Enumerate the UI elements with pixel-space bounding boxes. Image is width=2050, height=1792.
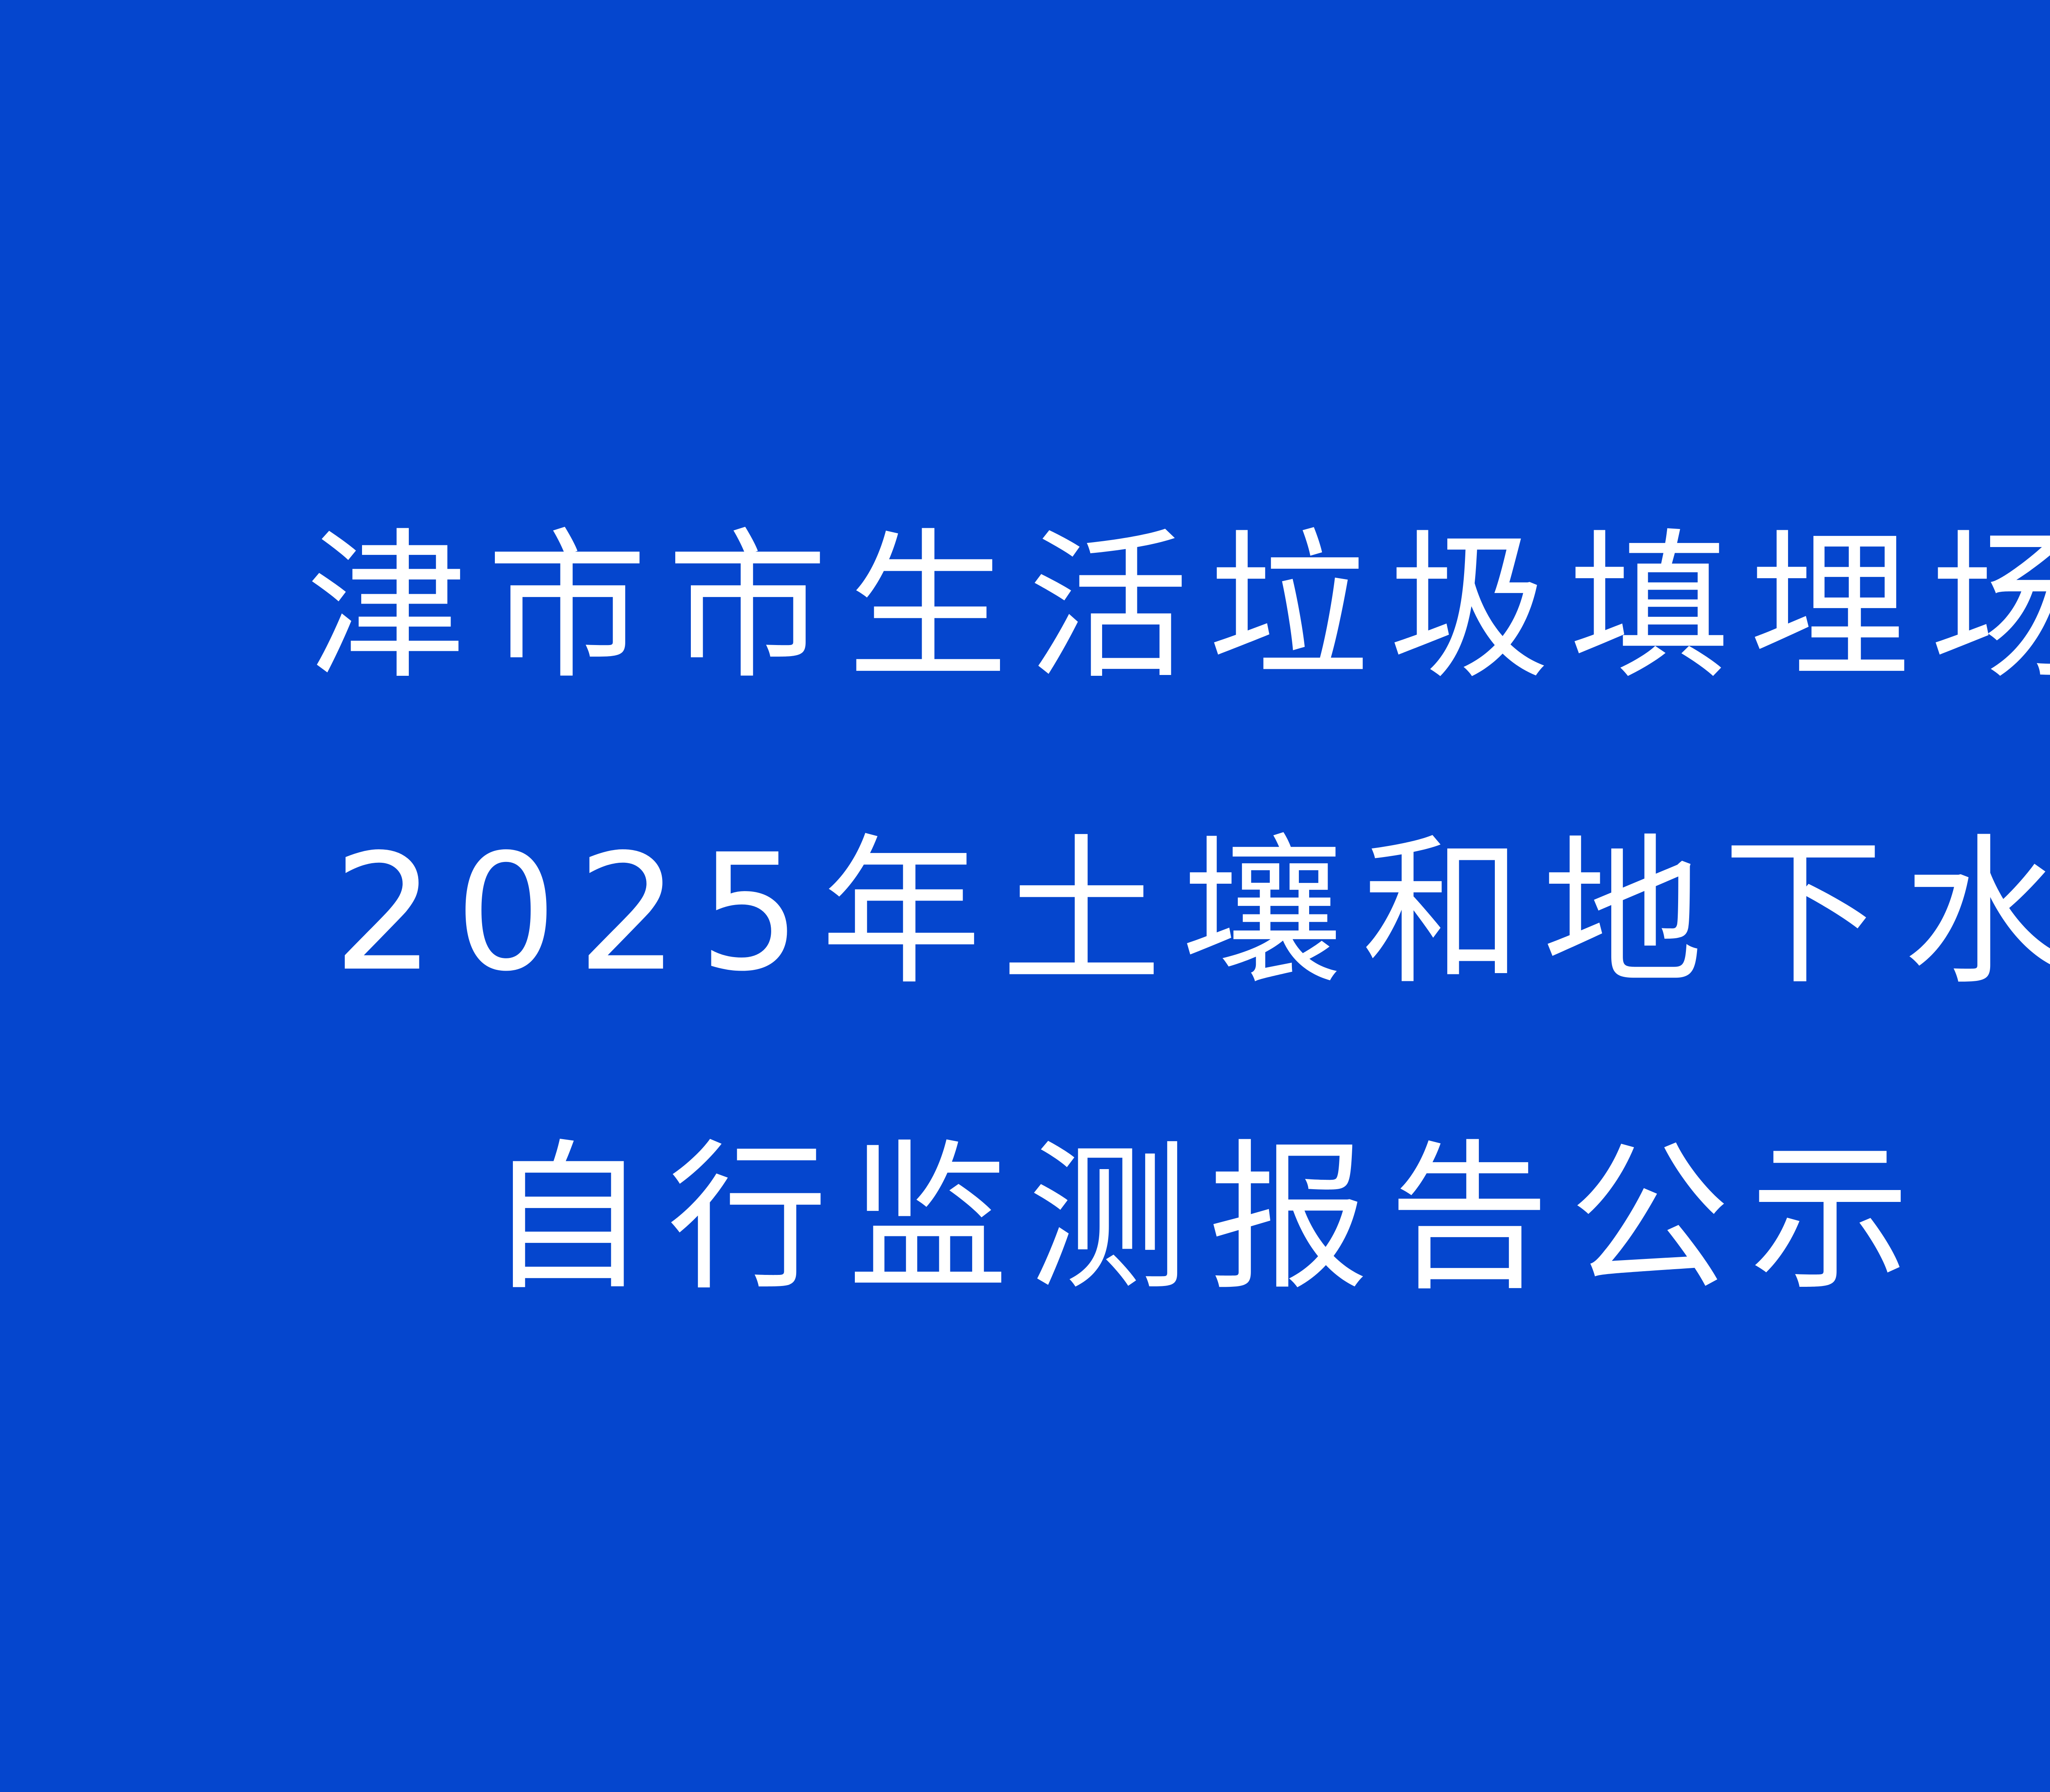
announcement-title-block: 津市市生活垃圾填埋场 2025年土壤和地下水 自行监测报告公示 bbox=[0, 455, 2050, 1372]
announcement-title-line-1: 津市市生活垃圾填埋场 bbox=[0, 455, 2050, 761]
announcement-poster: 津市市生活垃圾填埋场 2025年土壤和地下水 自行监测报告公示 bbox=[0, 0, 2050, 1792]
announcement-title-line-2: 2025年土壤和地下水 bbox=[0, 761, 2050, 1066]
announcement-title-line-3: 自行监测报告公示 bbox=[0, 1066, 2050, 1372]
